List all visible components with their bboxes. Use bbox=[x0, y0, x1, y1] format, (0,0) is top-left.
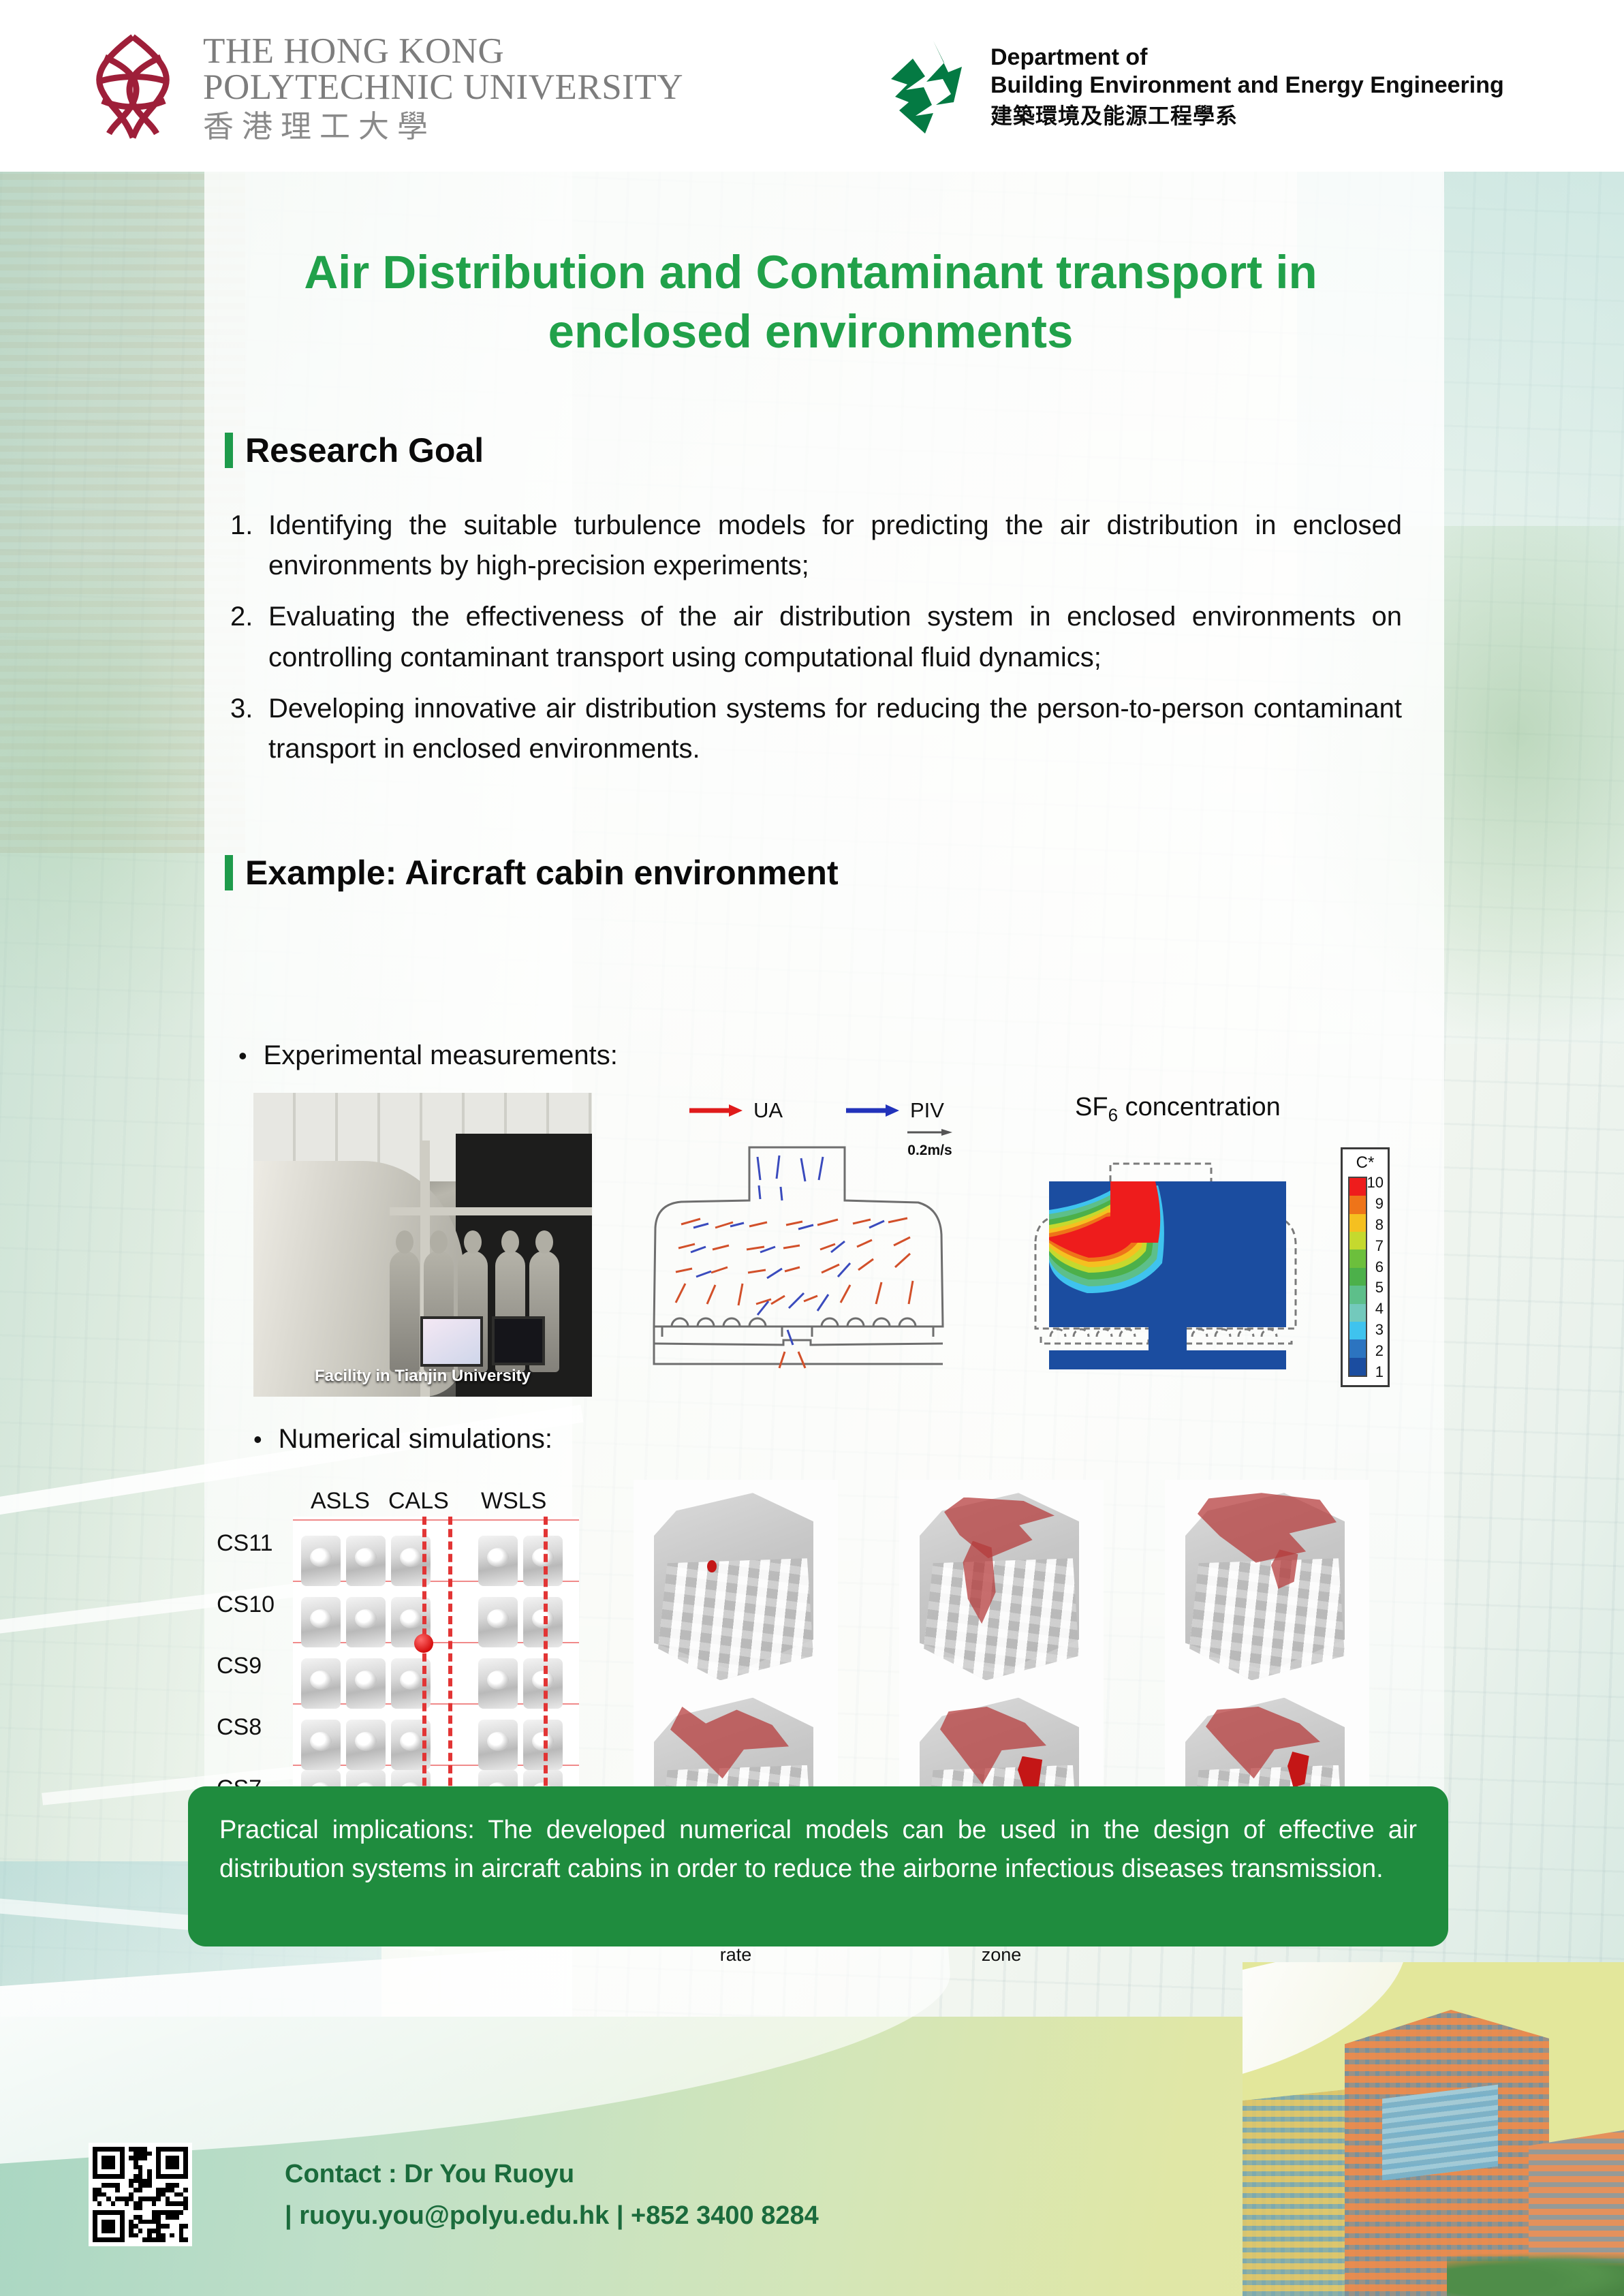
contact-name: Contact : Dr You Ruoyu bbox=[285, 2160, 819, 2189]
sf6-colorbar: C* 10 9 8 7 6 5 4 3 2 1 bbox=[1341, 1147, 1390, 1387]
campus-building-image bbox=[1243, 1962, 1624, 2296]
colorbar-title: C* bbox=[1343, 1153, 1388, 1173]
goal-number: 2. bbox=[230, 597, 268, 677]
sf6-concentration-title: SF6 concentration bbox=[1075, 1093, 1281, 1126]
contact-details: | ruoyu.you@polyu.edu.hk | +852 3400 828… bbox=[285, 2201, 819, 2231]
seat bbox=[301, 1720, 341, 1770]
legend-label-ua: UA bbox=[753, 1098, 783, 1123]
polyu-logo: THE HONG KONG POLYTECHNIC UNIVERSITY 香港理… bbox=[82, 33, 683, 142]
piv-legend: UA PIV bbox=[688, 1093, 1042, 1134]
seat bbox=[301, 1658, 341, 1709]
campus-building-left bbox=[1243, 2088, 1358, 2296]
colorbar-tick: 9 bbox=[1363, 1196, 1384, 1211]
bullet-label-experimental: Experimental measurements: bbox=[264, 1040, 618, 1071]
red-arrow-icon bbox=[688, 1103, 744, 1118]
col-header-wsls: WSLS bbox=[481, 1488, 546, 1515]
seat bbox=[523, 1720, 563, 1770]
department-wordmark: Department of Building Environment and E… bbox=[990, 40, 1504, 129]
colorbar-tick: 2 bbox=[1363, 1344, 1384, 1359]
bullet-label-numerical: Numerical simulations: bbox=[279, 1424, 552, 1455]
colorbar-tick: 4 bbox=[1363, 1301, 1384, 1316]
qr-code-grid bbox=[93, 2147, 188, 2242]
blue-arrow-icon bbox=[845, 1103, 901, 1118]
colorbar-tick: 10 bbox=[1363, 1175, 1384, 1190]
department-logo: Department of Building Environment and E… bbox=[886, 40, 1504, 135]
photo-frame-horizontal bbox=[390, 1207, 592, 1215]
seat bbox=[346, 1536, 386, 1586]
asls-line bbox=[422, 1517, 426, 1823]
wsls-line bbox=[544, 1517, 548, 1823]
row-label-cs8: CS8 bbox=[217, 1714, 262, 1741]
goal-number: 3. bbox=[230, 689, 268, 769]
list-item: 1. Identifying the suitable turbulence m… bbox=[230, 506, 1402, 586]
row-label-cs11: CS11 bbox=[217, 1530, 273, 1557]
facility-photo: Facility in Tianjin University bbox=[253, 1093, 592, 1397]
photo-manikin bbox=[390, 1251, 420, 1372]
seat bbox=[301, 1597, 341, 1647]
seat bbox=[478, 1720, 518, 1770]
seat bbox=[301, 1536, 341, 1586]
col-header-cals: CALS bbox=[388, 1488, 449, 1515]
sf6-title-rest: concentration bbox=[1118, 1093, 1281, 1121]
col-header-asls: ASLS bbox=[311, 1488, 370, 1515]
goal-text: Developing innovative air distribution s… bbox=[268, 689, 1402, 769]
seat-map-plot bbox=[293, 1517, 579, 1823]
list-item: 3. Developing innovative air distributio… bbox=[230, 689, 1402, 769]
polyu-name-line1: THE HONG KONG bbox=[203, 33, 683, 69]
qr-code[interactable] bbox=[89, 2143, 192, 2246]
legend-label-piv: PIV bbox=[910, 1098, 944, 1123]
polyu-name-chinese: 香港理工大學 bbox=[203, 111, 683, 142]
seat bbox=[523, 1658, 563, 1709]
section-header-example: Example: Aircraft cabin environment bbox=[225, 853, 839, 893]
section-accent-bar bbox=[225, 855, 233, 890]
sf6-source-marker-icon bbox=[414, 1634, 433, 1653]
department-knot-icon bbox=[886, 40, 973, 135]
seat bbox=[478, 1536, 518, 1586]
case-image bbox=[1165, 1480, 1369, 1698]
cabin-seats bbox=[924, 1558, 1079, 1680]
case-image bbox=[634, 1480, 838, 1698]
goal-text: Identifying the suitable turbulence mode… bbox=[268, 506, 1402, 586]
photo-caption: Facility in Tianjin University bbox=[253, 1367, 592, 1386]
photo-computer-screen bbox=[420, 1316, 483, 1367]
contact-block: Contact : Dr You Ruoyu | ruoyu.you@polyu… bbox=[285, 2160, 819, 2231]
research-goal-list: 1. Identifying the suitable turbulence m… bbox=[230, 506, 1402, 780]
polyu-wordmark: THE HONG KONG POLYTECHNIC UNIVERSITY 香港理… bbox=[203, 33, 683, 142]
bullet-dot-icon: • bbox=[253, 1427, 262, 1452]
department-line2: Building Environment and Energy Engineer… bbox=[990, 72, 1504, 99]
sf6-title-sub: 6 bbox=[1108, 1105, 1118, 1126]
polyu-knot-icon bbox=[82, 33, 184, 142]
sf6-contour-figure bbox=[1022, 1139, 1308, 1405]
case-panel-case1: Case 1 Gaspers off bbox=[899, 1480, 1104, 1698]
list-item: 2. Evaluating the effectiveness of the a… bbox=[230, 597, 1402, 677]
colorbar-tick: 8 bbox=[1363, 1217, 1384, 1232]
case-panel-source-location: Source location: 9C bbox=[634, 1480, 838, 1698]
section-title-example: Example: Aircraft cabin environment bbox=[245, 853, 839, 893]
colorbar-ticks: 10 9 8 7 6 5 4 3 2 1 bbox=[1363, 1175, 1384, 1380]
colorbar-tick: 7 bbox=[1363, 1239, 1384, 1254]
photo-monitor bbox=[492, 1316, 545, 1365]
department-line3-chinese: 建築環境及能源工程學系 bbox=[990, 103, 1504, 129]
seat bbox=[523, 1536, 563, 1586]
piv-vector-field-figure bbox=[613, 1132, 954, 1405]
campus-trees bbox=[1447, 2248, 1624, 2296]
header-band: THE HONG KONG POLYTECHNIC UNIVERSITY 香港理… bbox=[0, 0, 1624, 172]
sf6-title-main: SF bbox=[1075, 1093, 1108, 1121]
cabin-seats bbox=[658, 1558, 813, 1680]
seat bbox=[346, 1658, 386, 1709]
colorbar-tick: 1 bbox=[1363, 1365, 1384, 1380]
legend-item-ua: UA bbox=[688, 1098, 783, 1123]
campus-glass-band bbox=[1382, 2085, 1498, 2181]
cals-line bbox=[448, 1517, 452, 1823]
seat bbox=[523, 1597, 563, 1647]
practical-implications-text: Practical implications: The developed nu… bbox=[219, 1811, 1417, 1889]
legend-item-piv: PIV bbox=[845, 1098, 944, 1123]
case-panel-case2: Case 2 Gaspers on, default bbox=[1165, 1480, 1369, 1698]
seat bbox=[346, 1597, 386, 1647]
goal-number: 1. bbox=[230, 506, 268, 586]
department-line1: Department of bbox=[990, 44, 1504, 72]
section-accent-bar bbox=[225, 433, 233, 468]
seat bbox=[478, 1597, 518, 1647]
bullet-experimental-measurements: • Experimental measurements: bbox=[238, 1040, 618, 1071]
page-title: Air Distribution and Contaminant transpo… bbox=[225, 243, 1396, 362]
colorbar-tick: 3 bbox=[1363, 1322, 1384, 1337]
goal-text: Evaluating the effectiveness of the air … bbox=[268, 597, 1402, 677]
seat bbox=[346, 1720, 386, 1770]
row-label-cs9: CS9 bbox=[217, 1653, 262, 1679]
case-image bbox=[899, 1480, 1104, 1698]
bullet-dot-icon: • bbox=[238, 1044, 247, 1068]
bullet-numerical-simulations: • Numerical simulations: bbox=[253, 1424, 552, 1455]
grid-line bbox=[293, 1519, 579, 1521]
row-label-cs10: CS10 bbox=[217, 1592, 275, 1618]
section-header-research-goal: Research Goal bbox=[225, 431, 484, 470]
colorbar-tick: 6 bbox=[1363, 1260, 1384, 1275]
practical-implications-box: Practical implications: The developed nu… bbox=[188, 1786, 1448, 1946]
cabin-seats bbox=[1189, 1558, 1345, 1680]
polyu-name-line2: POLYTECHNIC UNIVERSITY bbox=[203, 69, 683, 106]
section-title-research-goal: Research Goal bbox=[245, 431, 484, 470]
seat bbox=[478, 1658, 518, 1709]
colorbar-tick: 5 bbox=[1363, 1280, 1384, 1295]
